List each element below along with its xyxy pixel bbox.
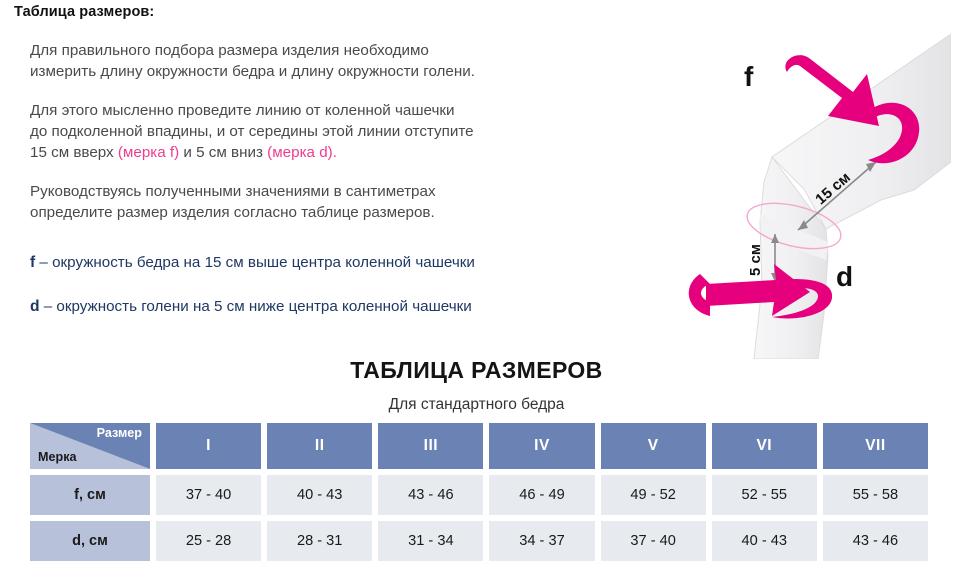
corner-measure-label: Мерка <box>38 450 77 464</box>
cell-f-III: 43 - 46 <box>378 475 483 515</box>
dimension-5cm-label: 5 см <box>747 244 764 276</box>
definition-dash-f: – <box>35 254 52 271</box>
cell-d-VI: 40 - 43 <box>712 521 817 561</box>
size-table-title: ТАБЛИЦА РАЗМЕРОВ <box>0 357 953 384</box>
intro-text-block: Для правильного подбора размера изделия … <box>30 40 670 241</box>
calf-label-d: d <box>836 261 853 292</box>
cell-d-II: 28 - 31 <box>267 521 372 561</box>
cell-d-VII: 43 - 46 <box>823 521 928 561</box>
paragraph-line-instruction-segment-2: и 5 см вниз <box>179 144 267 161</box>
bent-knee-measurement-diagram: 15 см 5 см f d <box>676 14 951 359</box>
definition-text-d: окружность голени на 5 см ниже центра ко… <box>56 298 471 315</box>
cell-f-II: 40 - 43 <box>267 475 372 515</box>
cell-d-III: 31 - 34 <box>378 521 483 561</box>
size-table: РазмерМеркаIIIIIIIVVVIVIIf, см37 - 4040 … <box>30 423 928 561</box>
definition-text-f: окружность бедра на 15 см выше центра ко… <box>52 254 475 271</box>
header-size-V: V <box>601 423 706 469</box>
paragraph-determine-size: Руководствуясь полученными значениями в … <box>30 181 670 223</box>
paragraph-line-instruction-segment-1: (мерка f) <box>118 144 179 161</box>
definition-d: d – окружность голени на 5 см ниже центр… <box>30 297 710 317</box>
cell-f-I: 37 - 40 <box>156 475 261 515</box>
paragraph-measure-intro-segment-0: Для правильного подбора размера изделия … <box>30 42 475 80</box>
corner-size-label: Размер <box>97 426 142 440</box>
definition-f: f – окружность бедра на 15 см выше центр… <box>30 253 710 273</box>
header-size-VI: VI <box>712 423 817 469</box>
header-size-III: III <box>378 423 483 469</box>
measurement-definitions: f – окружность бедра на 15 см выше центр… <box>30 253 710 341</box>
size-table-subtitle: Для стандартного бедра <box>0 396 953 414</box>
row-label-f: f, см <box>30 475 150 515</box>
thigh-label-f: f <box>744 61 754 92</box>
paragraph-line-instruction-segment-3: (мерка d). <box>267 144 337 161</box>
cell-f-V: 49 - 52 <box>601 475 706 515</box>
header-corner-cell: РазмерМерка <box>30 423 150 469</box>
paragraph-line-instruction: Для этого мысленно проведите линию от ко… <box>30 100 670 163</box>
header-size-I: I <box>156 423 261 469</box>
cell-d-IV: 34 - 37 <box>489 521 594 561</box>
cell-d-V: 37 - 40 <box>601 521 706 561</box>
definition-key-d: d <box>30 298 40 315</box>
row-label-d: d, см <box>30 521 150 561</box>
cell-f-VII: 55 - 58 <box>823 475 928 515</box>
header-size-IV: IV <box>489 423 594 469</box>
cell-f-IV: 46 - 49 <box>489 475 594 515</box>
leg-silhouette <box>754 34 951 359</box>
cell-f-VI: 52 - 55 <box>712 475 817 515</box>
header-size-VII: VII <box>823 423 928 469</box>
paragraph-determine-size-segment-0: Руководствуясь полученными значениями в … <box>30 183 436 221</box>
table-row: d, см25 - 2828 - 3131 - 3434 - 3737 - 40… <box>30 521 928 561</box>
page-title: Таблица размеров: <box>14 4 154 20</box>
paragraph-measure-intro: Для правильного подбора размера изделия … <box>30 40 670 82</box>
cell-d-I: 25 - 28 <box>156 521 261 561</box>
definition-dash-d: – <box>40 298 57 315</box>
header-size-II: II <box>267 423 372 469</box>
table-row: f, см37 - 4040 - 4343 - 4646 - 4949 - 52… <box>30 475 928 515</box>
table-header-row: РазмерМеркаIIIIIIIVVVIVII <box>30 423 928 469</box>
size-chart-page: Таблица размеров: Для правильного подбор… <box>0 0 953 570</box>
